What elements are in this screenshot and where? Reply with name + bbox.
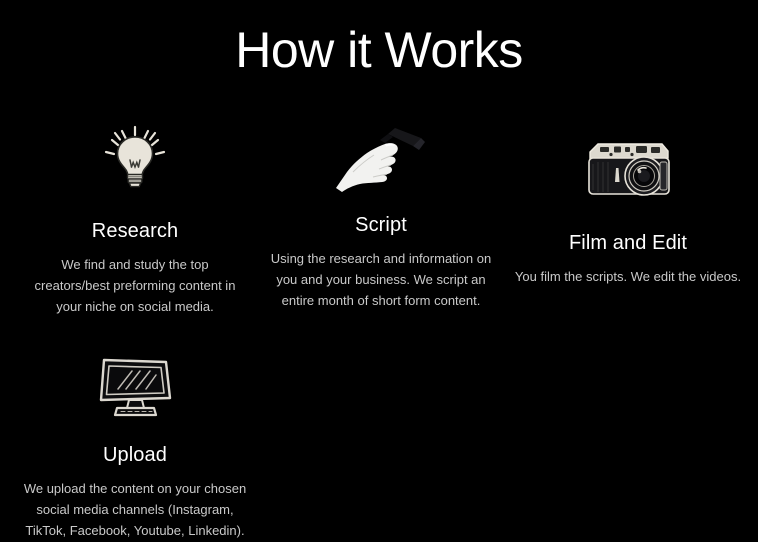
step-description-film-and-edit: You film the scripts. We edit the videos…	[508, 267, 748, 288]
step-card-research: Research We find and study the top creat…	[20, 118, 250, 317]
camera-icon	[580, 136, 676, 208]
step-card-script: Script Using the research and informatio…	[266, 120, 496, 311]
step-title-script: Script	[266, 214, 496, 237]
step-title-film-and-edit: Film and Edit	[513, 232, 743, 255]
step-card-upload: Upload We upload the content on your cho…	[20, 356, 250, 541]
how-it-works-section: How it Works	[0, 0, 758, 542]
hand-writing-pen-icon	[333, 120, 429, 196]
step-description-upload: We upload the content on your chosen soc…	[15, 479, 255, 541]
step-title-research: Research	[20, 220, 250, 243]
step-description-script: Using the research and information on yo…	[266, 249, 496, 311]
step-description-research: We find and study the top creators/best …	[33, 255, 238, 317]
lightbulb-icon	[95, 118, 175, 198]
step-title-upload: Upload	[20, 444, 250, 467]
step-card-film-and-edit: Film and Edit You film the scripts. We e…	[513, 136, 743, 288]
computer-monitor-icon	[92, 356, 178, 420]
page-title: How it Works	[0, 18, 758, 82]
